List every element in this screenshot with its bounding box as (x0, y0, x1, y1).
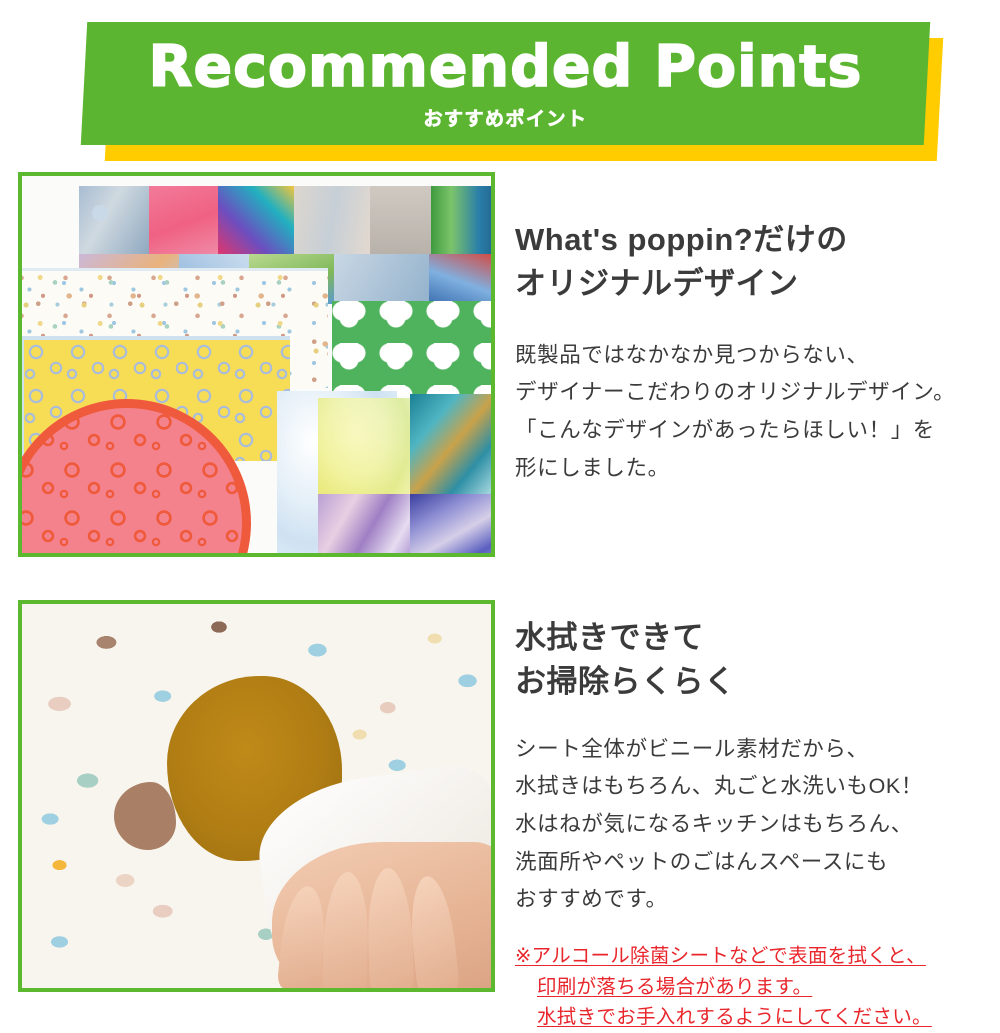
feature-section-cleaning: 水拭きできて お掃除らくらく シート全体がビニール素材だから、 水拭きはもちろん… (0, 598, 1000, 993)
heading-line: What's poppin?だけの (515, 218, 985, 262)
sheet-pink (149, 186, 217, 254)
heading-line: オリジナルデザイン (515, 262, 985, 306)
sheet-graffiti-blue (79, 186, 149, 254)
sheet-marble-indigo (410, 494, 495, 557)
heading-line: 水拭きできて (515, 616, 985, 660)
heading-line: お掃除らくらく (515, 660, 985, 704)
caution-note: ※アルコール除菌シートなどで表面を拭くと、 印刷が落ちる場合があります。 水拭き… (515, 919, 985, 1033)
feature-body-cleaning: シート全体がビニール素材だから、 水拭きはもちろん、丸ごと水洗いもOK！ 水はね… (515, 705, 985, 919)
sheet-brick (334, 254, 429, 304)
sheet-green-stripe (431, 186, 495, 254)
finger (277, 884, 330, 992)
hand (272, 842, 495, 992)
body-line: 水はねが気になるキッチンはもちろん、 (515, 806, 985, 844)
feature-text-cleaning: 水拭きできて お掃除らくらく シート全体がビニール素材だから、 水拭きはもちろん… (515, 598, 985, 1033)
feature-section-design: What's poppin?だけの オリジナルデザイン 既製品ではなかなか見つか… (0, 170, 1000, 560)
finger (322, 871, 370, 992)
graffiti-sheet-row-top (79, 186, 495, 254)
sheet-marble-purple (318, 494, 410, 557)
header-banner: Recommended Points おすすめポイント (0, 0, 1000, 175)
liquid-splash-small (114, 782, 176, 850)
feature-heading-cleaning: 水拭きできて お掃除らくらく (515, 598, 985, 705)
page-subtitle: おすすめポイント (423, 104, 587, 131)
body-line: 形にしました。 (515, 450, 985, 488)
body-line: 既製品ではなかなか見つからない、 (515, 337, 985, 375)
body-line: おすすめです。 (515, 881, 985, 919)
finger (366, 867, 414, 992)
page-title: Recommended Points (149, 39, 863, 96)
finger (406, 874, 460, 992)
feature-body-design: 既製品ではなかなか見つからない、 デザイナーこだわりのオリジナルデザイン。 「こ… (515, 307, 985, 488)
body-line: 洗面所やペットのごはんスペースにも (515, 844, 985, 882)
body-line: 水拭きはもちろん、丸ごと水洗いもOK！ (515, 768, 985, 806)
feature-text-design: What's poppin?だけの オリジナルデザイン 既製品ではなかなか見つか… (515, 170, 985, 487)
sheet-red-line-art (429, 254, 495, 304)
photo-pattern-collage (18, 172, 495, 557)
photo-wipe-clean (18, 600, 495, 992)
banner-green-plate: Recommended Points おすすめポイント (81, 22, 930, 145)
feature-heading-design: What's poppin?だけの オリジナルデザイン (515, 170, 985, 307)
sheet-marble-green-gold (318, 398, 410, 508)
sheet-concrete (294, 186, 370, 254)
body-line: デザイナーこだわりのオリジナルデザイン。 (515, 374, 985, 412)
body-line: シート全体がビニール素材だから、 (515, 731, 985, 769)
sheet-graffiti-multicolor (218, 186, 294, 254)
body-line: 「こんなデザインがあったらほしい！」を (515, 412, 985, 450)
sheet-green-flower (332, 301, 495, 396)
note-line: 印刷が落ちる場合があります。 (515, 972, 985, 1003)
sheet-grey (370, 186, 431, 254)
note-line: 水拭きでお手入れするようにしてください。 (515, 1002, 985, 1033)
note-line: ※アルコール除菌シートなどで表面を拭くと、 (515, 941, 985, 972)
